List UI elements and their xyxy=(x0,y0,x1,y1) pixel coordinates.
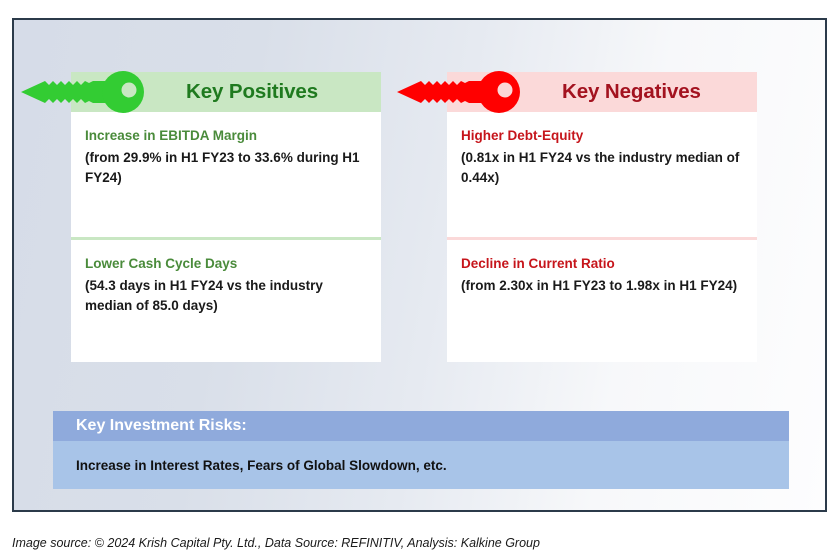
key-positives-header: Key Positives xyxy=(71,72,381,112)
card-title: Increase in EBITDA Margin xyxy=(85,127,367,145)
risks-header-label: Key Investment Risks: xyxy=(76,417,247,435)
key-positive-card-1: Increase in EBITDA Margin (from 29.9% in… xyxy=(71,112,381,237)
card-detail: (from 2.30x in H1 FY23 to 1.98x in H1 FY… xyxy=(461,276,743,296)
key-negatives-title: Key Negatives xyxy=(562,80,701,104)
key-negative-card-2: Decline in Current Ratio (from 2.30x in … xyxy=(447,237,757,362)
key-icon xyxy=(19,70,179,114)
risks-body: Increase in Interest Rates, Fears of Glo… xyxy=(53,441,789,489)
key-positive-card-2: Lower Cash Cycle Days (54.3 days in H1 F… xyxy=(71,237,381,362)
image-source-caption: Image source: © 2024 Krish Capital Pty. … xyxy=(12,536,540,550)
key-positives-title: Key Positives xyxy=(186,80,318,104)
key-negatives-column: Key Negatives Higher Debt-Equity (0.81x … xyxy=(447,72,757,362)
key-icon xyxy=(395,70,555,114)
card-title: Lower Cash Cycle Days xyxy=(85,255,367,273)
slide-frame: Key Positives Increase in EBITDA Margin … xyxy=(12,18,827,512)
risks-body-text: Increase in Interest Rates, Fears of Glo… xyxy=(76,458,447,473)
key-positives-column: Key Positives Increase in EBITDA Margin … xyxy=(71,72,381,362)
card-title: Decline in Current Ratio xyxy=(461,255,743,273)
key-investment-risks-banner: Key Investment Risks: Increase in Intere… xyxy=(53,411,789,489)
key-negatives-cards: Higher Debt-Equity (0.81x in H1 FY24 vs … xyxy=(447,112,757,362)
card-detail: (from 29.9% in H1 FY23 to 33.6% during H… xyxy=(85,148,367,187)
key-negatives-header: Key Negatives xyxy=(447,72,757,112)
key-negative-card-1: Higher Debt-Equity (0.81x in H1 FY24 vs … xyxy=(447,112,757,237)
card-detail: (0.81x in H1 FY24 vs the industry median… xyxy=(461,148,743,187)
key-positives-cards: Increase in EBITDA Margin (from 29.9% in… xyxy=(71,112,381,362)
card-detail: (54.3 days in H1 FY24 vs the industry me… xyxy=(85,276,367,315)
card-title: Higher Debt-Equity xyxy=(461,127,743,145)
risks-header: Key Investment Risks: xyxy=(53,411,789,441)
